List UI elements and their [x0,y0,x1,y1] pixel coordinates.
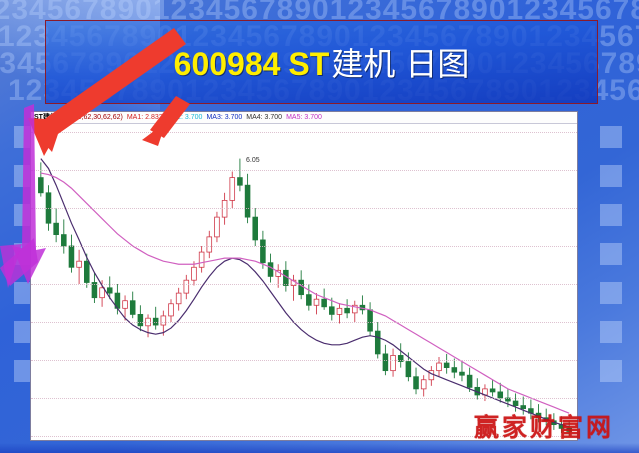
chart-gridline [31,170,577,171]
decor-square [600,282,622,304]
candle-body [130,301,135,315]
ma3-label: MA3: 3.700 [206,114,242,121]
peak-price-label: 6.05 [246,157,260,164]
ma2-label: MA2: 3.700 [167,114,203,121]
candle-body [169,304,174,316]
title-ticker: ST [280,46,329,82]
title-box: 600984ST建机日图 [45,20,598,104]
candle-body [199,252,204,267]
chart-gridline [31,360,577,361]
candle-body [207,237,212,252]
chart-gridline [31,208,577,209]
candle-body [245,185,250,217]
chart-indicator-def: MA(10,62,30,62,62) [61,114,123,121]
candle-body [123,301,128,309]
candle-body [490,389,495,392]
decor-squares-right [600,126,622,399]
chart-gridline [31,284,577,285]
decor-square [600,165,622,187]
candlestick-svg [31,124,577,441]
decor-square [600,126,622,148]
candle-body [314,299,319,305]
candle-body [192,267,197,280]
ma4-label: MA4: 3.700 [246,114,282,121]
candle-body [306,295,311,306]
candle-body [444,363,449,368]
stock-chart-panel[interactable]: ST建机MA(10,62,30,62,62)MA1: 2.832MA2: 3.7… [30,111,578,441]
candle-body [238,178,243,186]
candle-body [414,377,419,389]
title-name: 建机 [329,46,395,82]
candle-body [513,401,518,406]
candle-body [38,178,43,193]
candle-body [69,246,74,267]
candle-body [337,308,342,314]
candle-body [322,299,327,307]
candle-body [345,308,350,313]
candle-body [61,235,66,246]
candle-body [460,372,465,375]
candle-body [329,307,334,315]
candle-body [421,380,426,389]
candle-body [368,310,373,331]
candle-body [391,355,396,370]
candle-body [84,261,89,282]
bottom-shade [0,443,639,453]
candle-body [161,316,166,325]
chart-gridline [31,322,577,323]
chart-gridline [31,246,577,247]
candle-body [268,263,273,277]
title-period: 日图 [395,46,469,82]
chart-symbol-label: ST建机 [34,114,57,121]
candle-body [467,375,472,387]
candle-body [261,240,266,263]
candle-body [230,178,235,201]
chart-plot-area: 6.05 [31,124,577,441]
candle-body [253,217,258,240]
decor-square [600,321,622,343]
candle-body [383,354,388,371]
candle-body [54,223,59,234]
candle-body [215,217,220,237]
decor-square [600,360,622,382]
chart-indicator-header: ST建机MA(10,62,30,62,62)MA1: 2.832MA2: 3.7… [31,112,577,124]
page-title: 600984ST建机日图 [174,39,470,85]
decor-square [600,243,622,265]
candle-body [77,261,82,267]
slide-canvas: 1234567890123456789012345678901234567890… [0,0,639,453]
candle-body [437,363,442,371]
candle-body [452,368,457,373]
candle-body [299,280,304,294]
site-watermark: 赢家财富网 [474,408,614,444]
candle-body [406,362,411,377]
title-code: 600984 [174,46,281,82]
candle-body [184,280,189,293]
candle-body [107,288,112,293]
ma1-label: MA1: 2.832 [127,114,163,121]
candle-body [138,314,143,325]
chart-gridline [31,132,577,133]
candle-body [375,331,380,354]
decor-square [600,204,622,226]
candle-body [176,293,181,304]
ma5-label: MA5: 3.700 [286,114,322,121]
chart-gridline [31,398,577,399]
candle-body [100,288,105,298]
